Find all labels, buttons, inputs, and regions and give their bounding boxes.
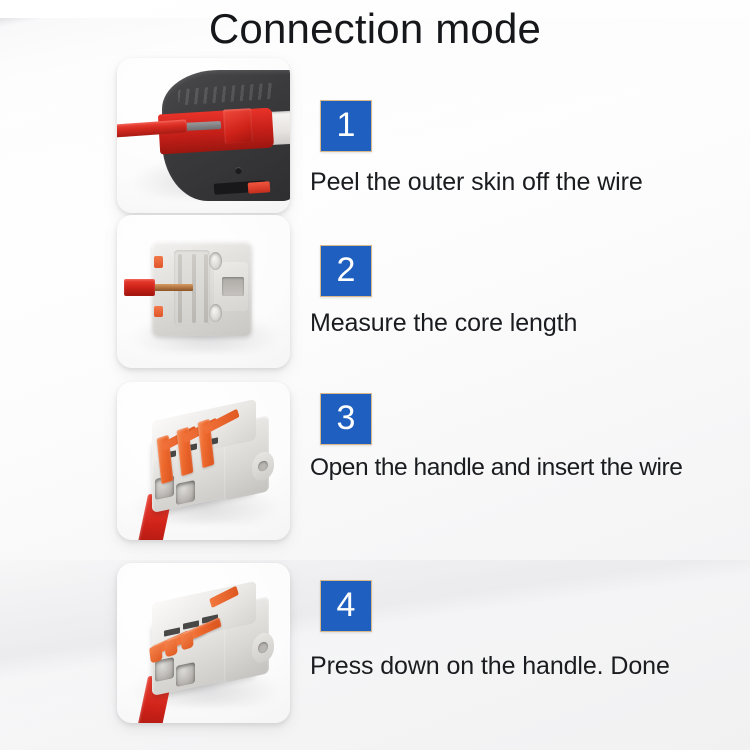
step-1-photo-card [117,58,290,213]
step-number-badge-2: 2 [320,245,372,297]
step-2-illustration-core-measurement [117,215,290,368]
step-caption-4: Press down on the handle. Done [310,652,670,681]
step-4-photo-card [117,563,290,723]
connector-mounting-hole [209,252,222,270]
step-caption-3: Open the handle and insert the wire [310,454,682,482]
step-4-illustration-levers-closed [117,563,290,723]
stripper-pivot-dot [235,167,242,174]
step-row-4: 4 Press down on the handle. Done [0,563,750,723]
step-row-3: 3 Open the handle and insert the wire [0,382,750,540]
stripper-red-block [223,108,252,143]
lever-connector [117,563,290,723]
connector-wire-port [176,480,195,505]
step-number-badge-1: 1 [320,100,372,152]
step-1-illustration-wire-stripper-tool [117,58,290,213]
step-row-1: 1 Peel the outer skin off the wire [0,58,750,213]
lever-connector [117,382,290,540]
step-number-badge-4: 4 [320,580,372,632]
connector-mounting-hole [209,304,222,322]
step-caption-2: Measure the core length [310,309,577,338]
connector-tab-slot [222,277,244,296]
connector-wire-port [176,662,195,687]
step-row-2: 2 Measure the core length [0,215,750,368]
step-3-illustration-levers-open [117,382,290,540]
step-3-photo-card [117,382,290,540]
connector-orange-lever [154,256,163,267]
page-title: Connection mode [0,2,750,56]
instruction-graphic: Connection mode 1 Peel the outer skin of… [0,0,750,750]
step-number-badge-3: 3 [320,393,372,445]
red-insulated-wire [124,279,155,296]
step-caption-1: Peel the outer skin off the wire [310,168,643,197]
step-2-photo-card [117,215,290,368]
connector-orange-lever [154,306,163,317]
connector-rib [204,254,208,322]
stripper-orange-switch [248,181,271,193]
